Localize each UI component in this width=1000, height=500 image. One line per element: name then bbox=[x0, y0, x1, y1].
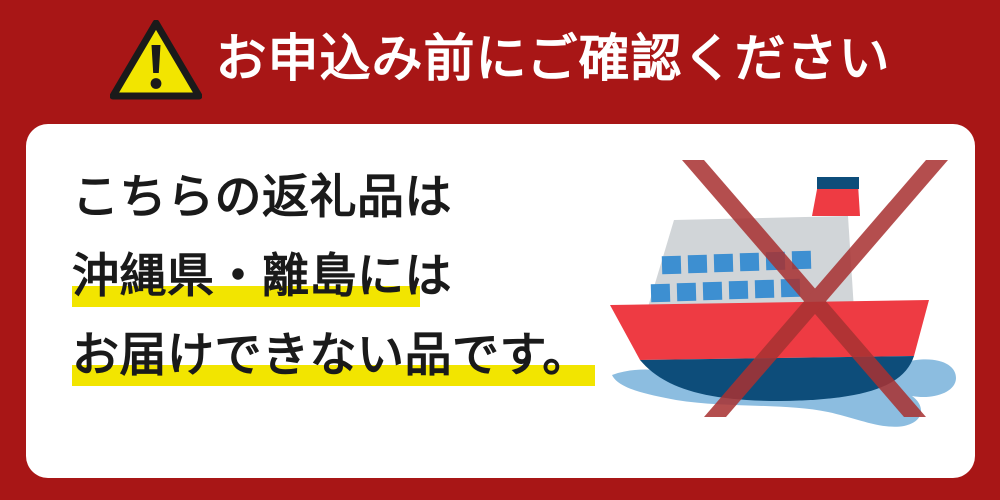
header-banner: お申込み前にご確認ください bbox=[0, 0, 1000, 124]
ship-not-allowed-illustration bbox=[604, 160, 964, 450]
notice-card: こちらの返礼品は 沖縄県・離島には お届けできない品です。 bbox=[26, 124, 975, 478]
message-line-3-text: お届けできない品です。 bbox=[72, 328, 590, 383]
warning-triangle-icon bbox=[110, 20, 202, 100]
notice-message: こちらの返礼品は 沖縄県・離島には お届けできない品です。 bbox=[72, 174, 632, 384]
message-line-2-text: 沖縄県・離島には bbox=[72, 249, 452, 304]
message-line-1: こちらの返礼品は bbox=[72, 174, 632, 226]
message-line-2: 沖縄県・離島には bbox=[72, 253, 632, 305]
page-title: お申込み前にご確認ください bbox=[216, 34, 891, 85]
ship-funnel-icon bbox=[812, 177, 860, 216]
promo-notice-banner: お申込み前にご確認ください こちらの返礼品は 沖縄県・離島には お届けできない品… bbox=[0, 0, 1000, 500]
message-line-3: お届けできない品です。 bbox=[72, 332, 632, 384]
message-line-1-text: こちらの返礼品は bbox=[72, 170, 452, 225]
